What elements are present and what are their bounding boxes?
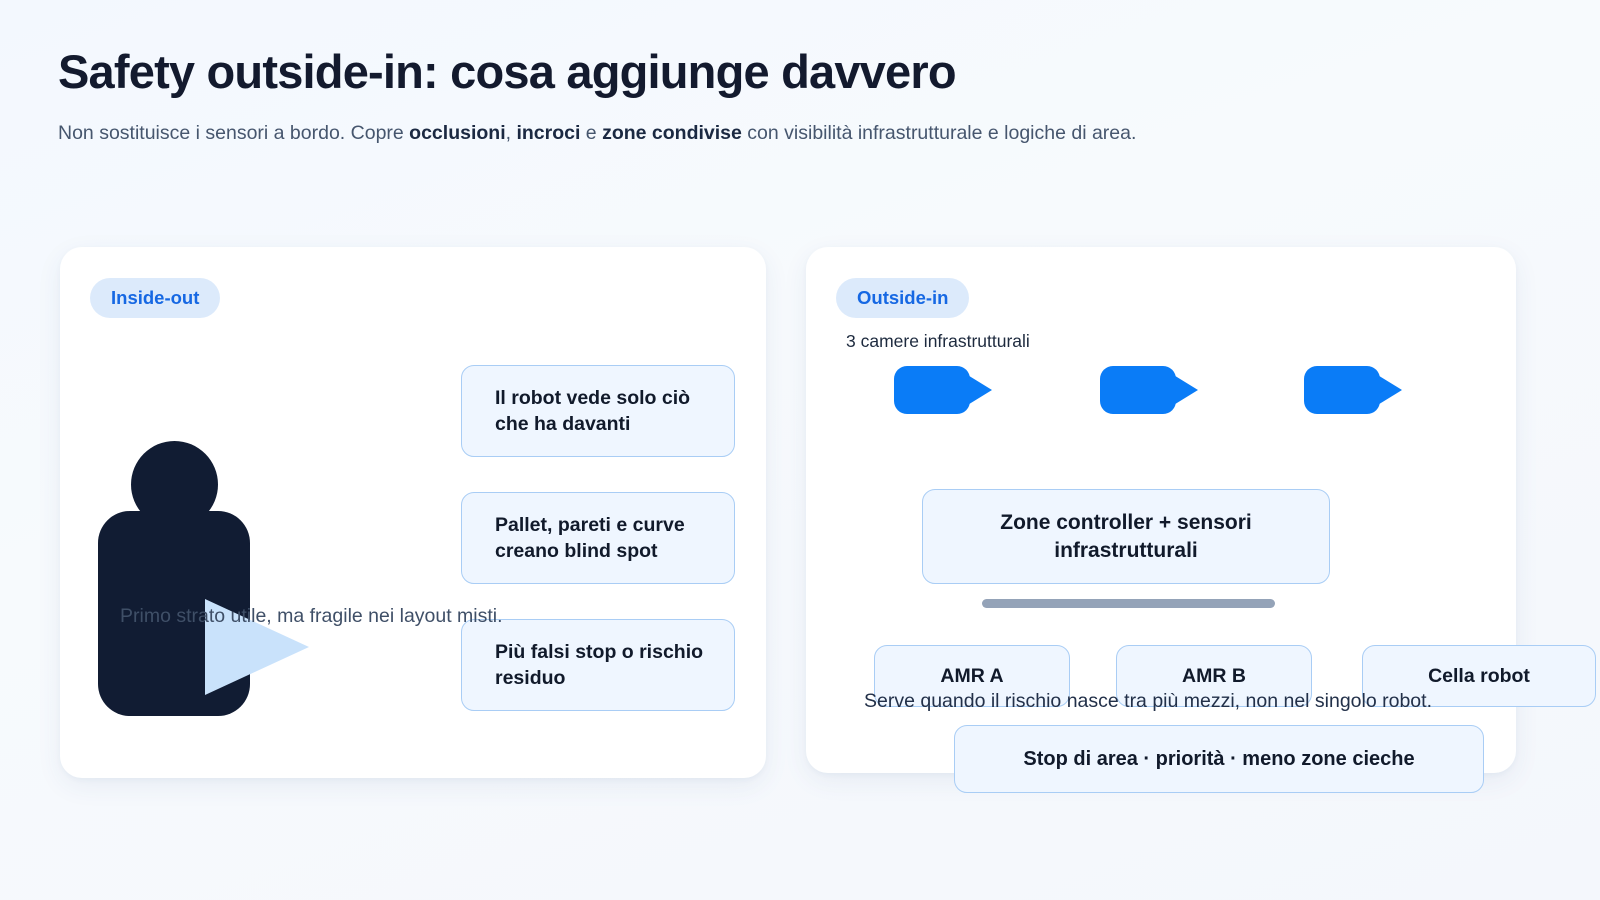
subtitle-part-3: e (580, 122, 602, 144)
chip-blind-spot-label: Pallet, pareti e curve creano blind spot (478, 512, 718, 564)
subtitle-bold-zone-condivise: zone condivise (602, 122, 742, 144)
subtitle-part-1: Non sostituisce i sensori a bordo. Copre (58, 122, 409, 144)
zone-controller-box: Zone controller + sensori infrastruttura… (922, 489, 1330, 584)
outcome-chip: Stop di area · priorità · meno zone ciec… (954, 725, 1484, 793)
subtitle-bold-incroci: incroci (516, 122, 580, 144)
chip-false-stop: Più falsi stop o rischio residuo (461, 619, 735, 711)
page-header: Safety outside-in: cosa aggiunge davvero… (58, 46, 1358, 148)
outcome-label: Stop di area · priorità · meno zone ciec… (1023, 746, 1414, 773)
chip-blind-spot: Pallet, pareti e curve creano blind spot (461, 492, 735, 584)
camera-icon-2 (1100, 366, 1176, 414)
camera-icon-1 (894, 366, 970, 414)
page-title: Safety outside-in: cosa aggiunge davvero (58, 46, 1358, 99)
subtitle-bold-occlusioni: occlusioni (409, 122, 505, 144)
camera-lens-icon (966, 374, 992, 406)
camera-body-icon (894, 366, 970, 414)
chip-robot-sight-label: Il robot vede solo ciò che ha davanti (478, 385, 718, 437)
page-root: Safety outside-in: cosa aggiunge davvero… (0, 0, 1600, 900)
zone-bus-bar (982, 599, 1275, 608)
badge-inside-out: Inside-out (90, 278, 220, 318)
zone-controller-label: Zone controller + sensori infrastruttura… (943, 509, 1309, 564)
camera-body-icon (1100, 366, 1176, 414)
subtitle-part-4: con visibilità infrastrutturale e logich… (742, 122, 1137, 144)
inside-out-caption: Primo strato utile, ma fragile nei layou… (120, 602, 550, 630)
subtitle-part-2: , (506, 122, 517, 144)
inside-out-card: Inside-out Il robot vede solo ciò che ha… (60, 247, 766, 778)
chip-robot-sight: Il robot vede solo ciò che ha davanti (461, 365, 735, 457)
page-subtitle: Non sostituisce i sensori a bordo. Copre… (58, 119, 1298, 149)
badge-outside-in: Outside-in (836, 278, 969, 318)
outside-in-caption: Serve quando il rischio nasce tra più me… (864, 687, 1444, 715)
camera-body-icon (1304, 366, 1380, 414)
node-amr-b-label: AMR B (1182, 663, 1246, 689)
node-amr-a-label: AMR A (940, 663, 1003, 689)
chip-false-stop-label: Più falsi stop o rischio residuo (478, 639, 718, 691)
camera-count-label: 3 camere infrastrutturali (846, 331, 1030, 352)
node-cella-robot-label: Cella robot (1428, 663, 1530, 689)
outside-in-card: Outside-in 3 camere infrastrutturali Zon… (806, 247, 1516, 773)
camera-lens-icon (1376, 374, 1402, 406)
camera-lens-icon (1172, 374, 1198, 406)
camera-icon-3 (1304, 366, 1380, 414)
